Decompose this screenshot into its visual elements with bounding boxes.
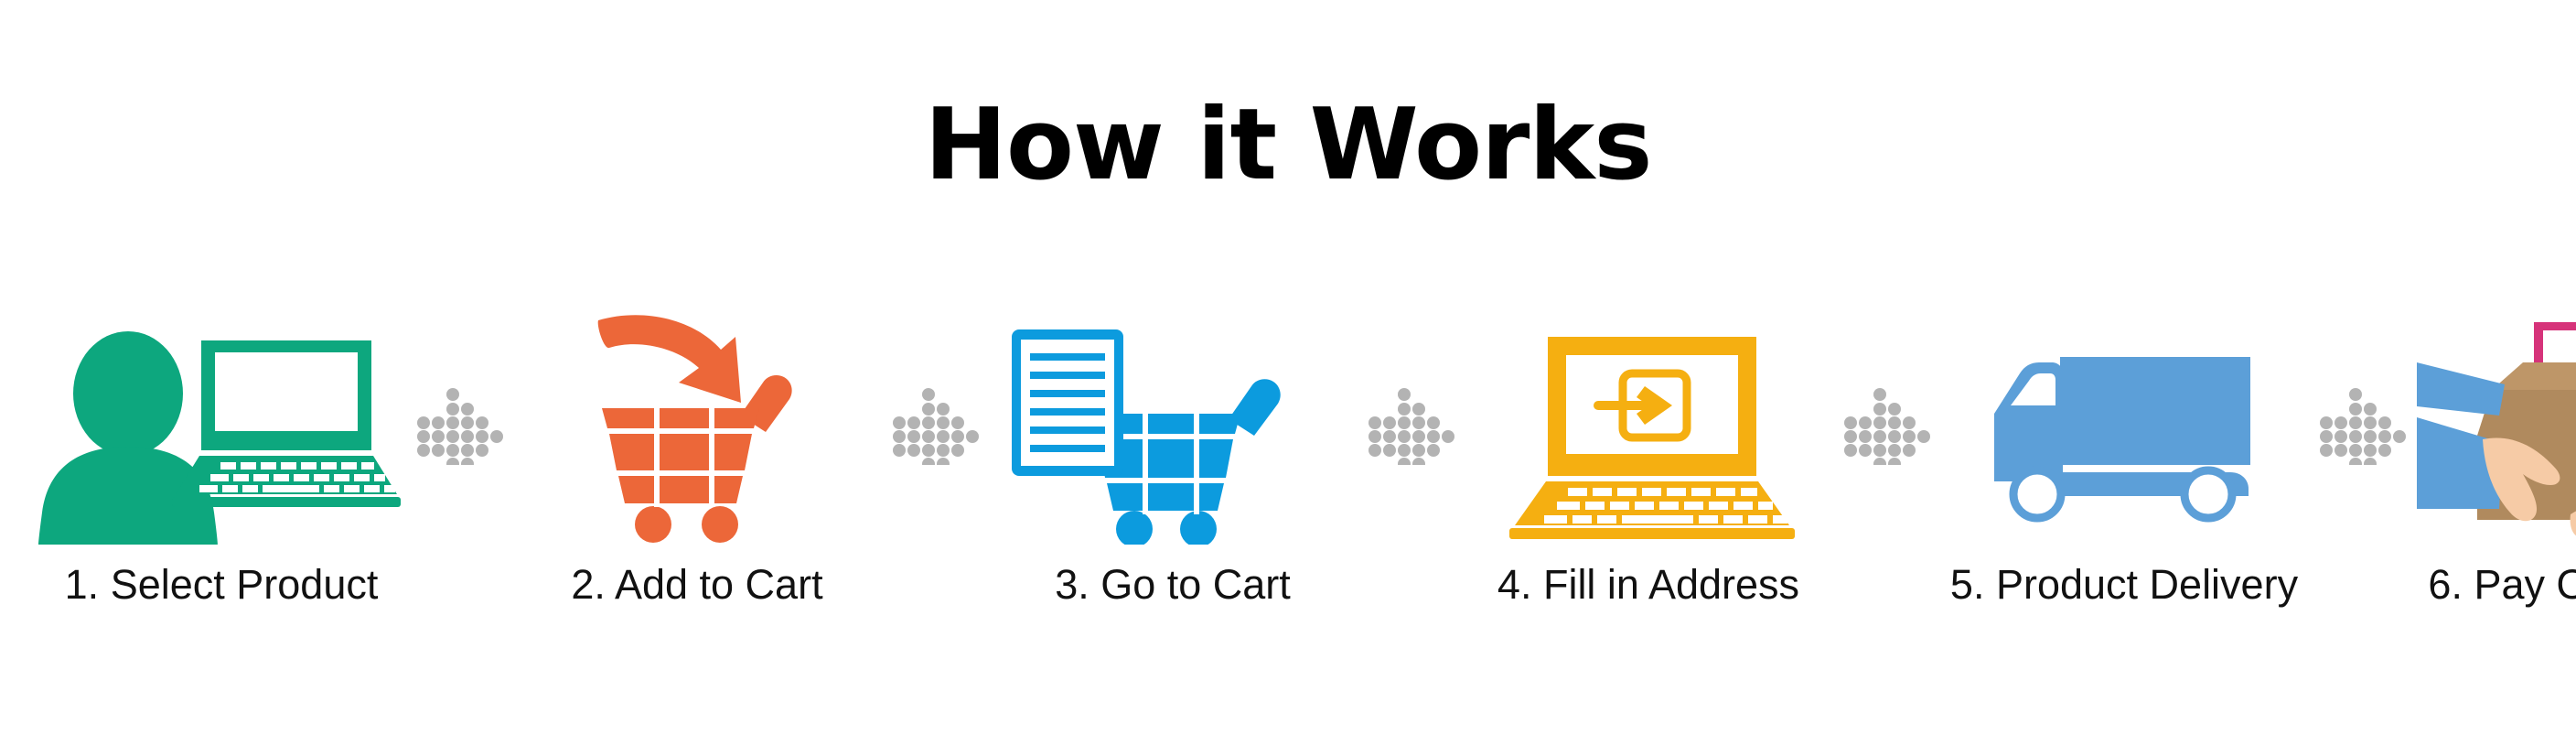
step-1-select-product[interactable]: 1. Select Product bbox=[38, 302, 404, 632]
document-with-cart-icon bbox=[990, 302, 1356, 545]
person-with-laptop-icon bbox=[38, 302, 404, 545]
step-1-label: 1. Select Product bbox=[65, 561, 379, 609]
dotted-arrow-right-icon-3 bbox=[1356, 302, 1465, 545]
page-title: How it Works bbox=[0, 95, 2576, 196]
step-2-add-to-cart[interactable]: 2. Add to Cart bbox=[514, 302, 880, 632]
dotted-arrow-right-icon-4 bbox=[1831, 302, 1941, 545]
dotted-arrow-right-icon-5 bbox=[2307, 302, 2417, 545]
step-4-label: 4. Fill in Address bbox=[1497, 561, 1799, 609]
step-5-product-delivery[interactable]: 5. Product Delivery bbox=[1941, 302, 2307, 632]
step-4-fill-in-address[interactable]: 4. Fill in Address bbox=[1465, 302, 1831, 632]
dotted-arrow-right-icon-1 bbox=[404, 302, 514, 545]
laptop-login-icon bbox=[1465, 302, 1831, 545]
cart-with-arrow-icon bbox=[514, 302, 880, 545]
delivery-truck-icon bbox=[1941, 302, 2307, 545]
step-3-go-to-cart[interactable]: 3. Go to Cart bbox=[990, 302, 1356, 632]
step-2-label: 2. Add to Cart bbox=[571, 561, 822, 609]
step-5-label: 5. Product Delivery bbox=[1950, 561, 2298, 609]
infographic-page: How it Works bbox=[0, 0, 2576, 745]
hands-exchange-box-and-money-icon: $ bbox=[2417, 302, 2576, 545]
dotted-arrow-right-icon-2 bbox=[880, 302, 990, 545]
step-6-pay-on-delivery[interactable]: $ bbox=[2417, 302, 2576, 632]
step-6-label: 6. Pay On Delivery bbox=[2428, 561, 2576, 609]
step-3-label: 3. Go to Cart bbox=[1055, 561, 1291, 609]
steps-row: 1. Select Product bbox=[38, 302, 2545, 632]
